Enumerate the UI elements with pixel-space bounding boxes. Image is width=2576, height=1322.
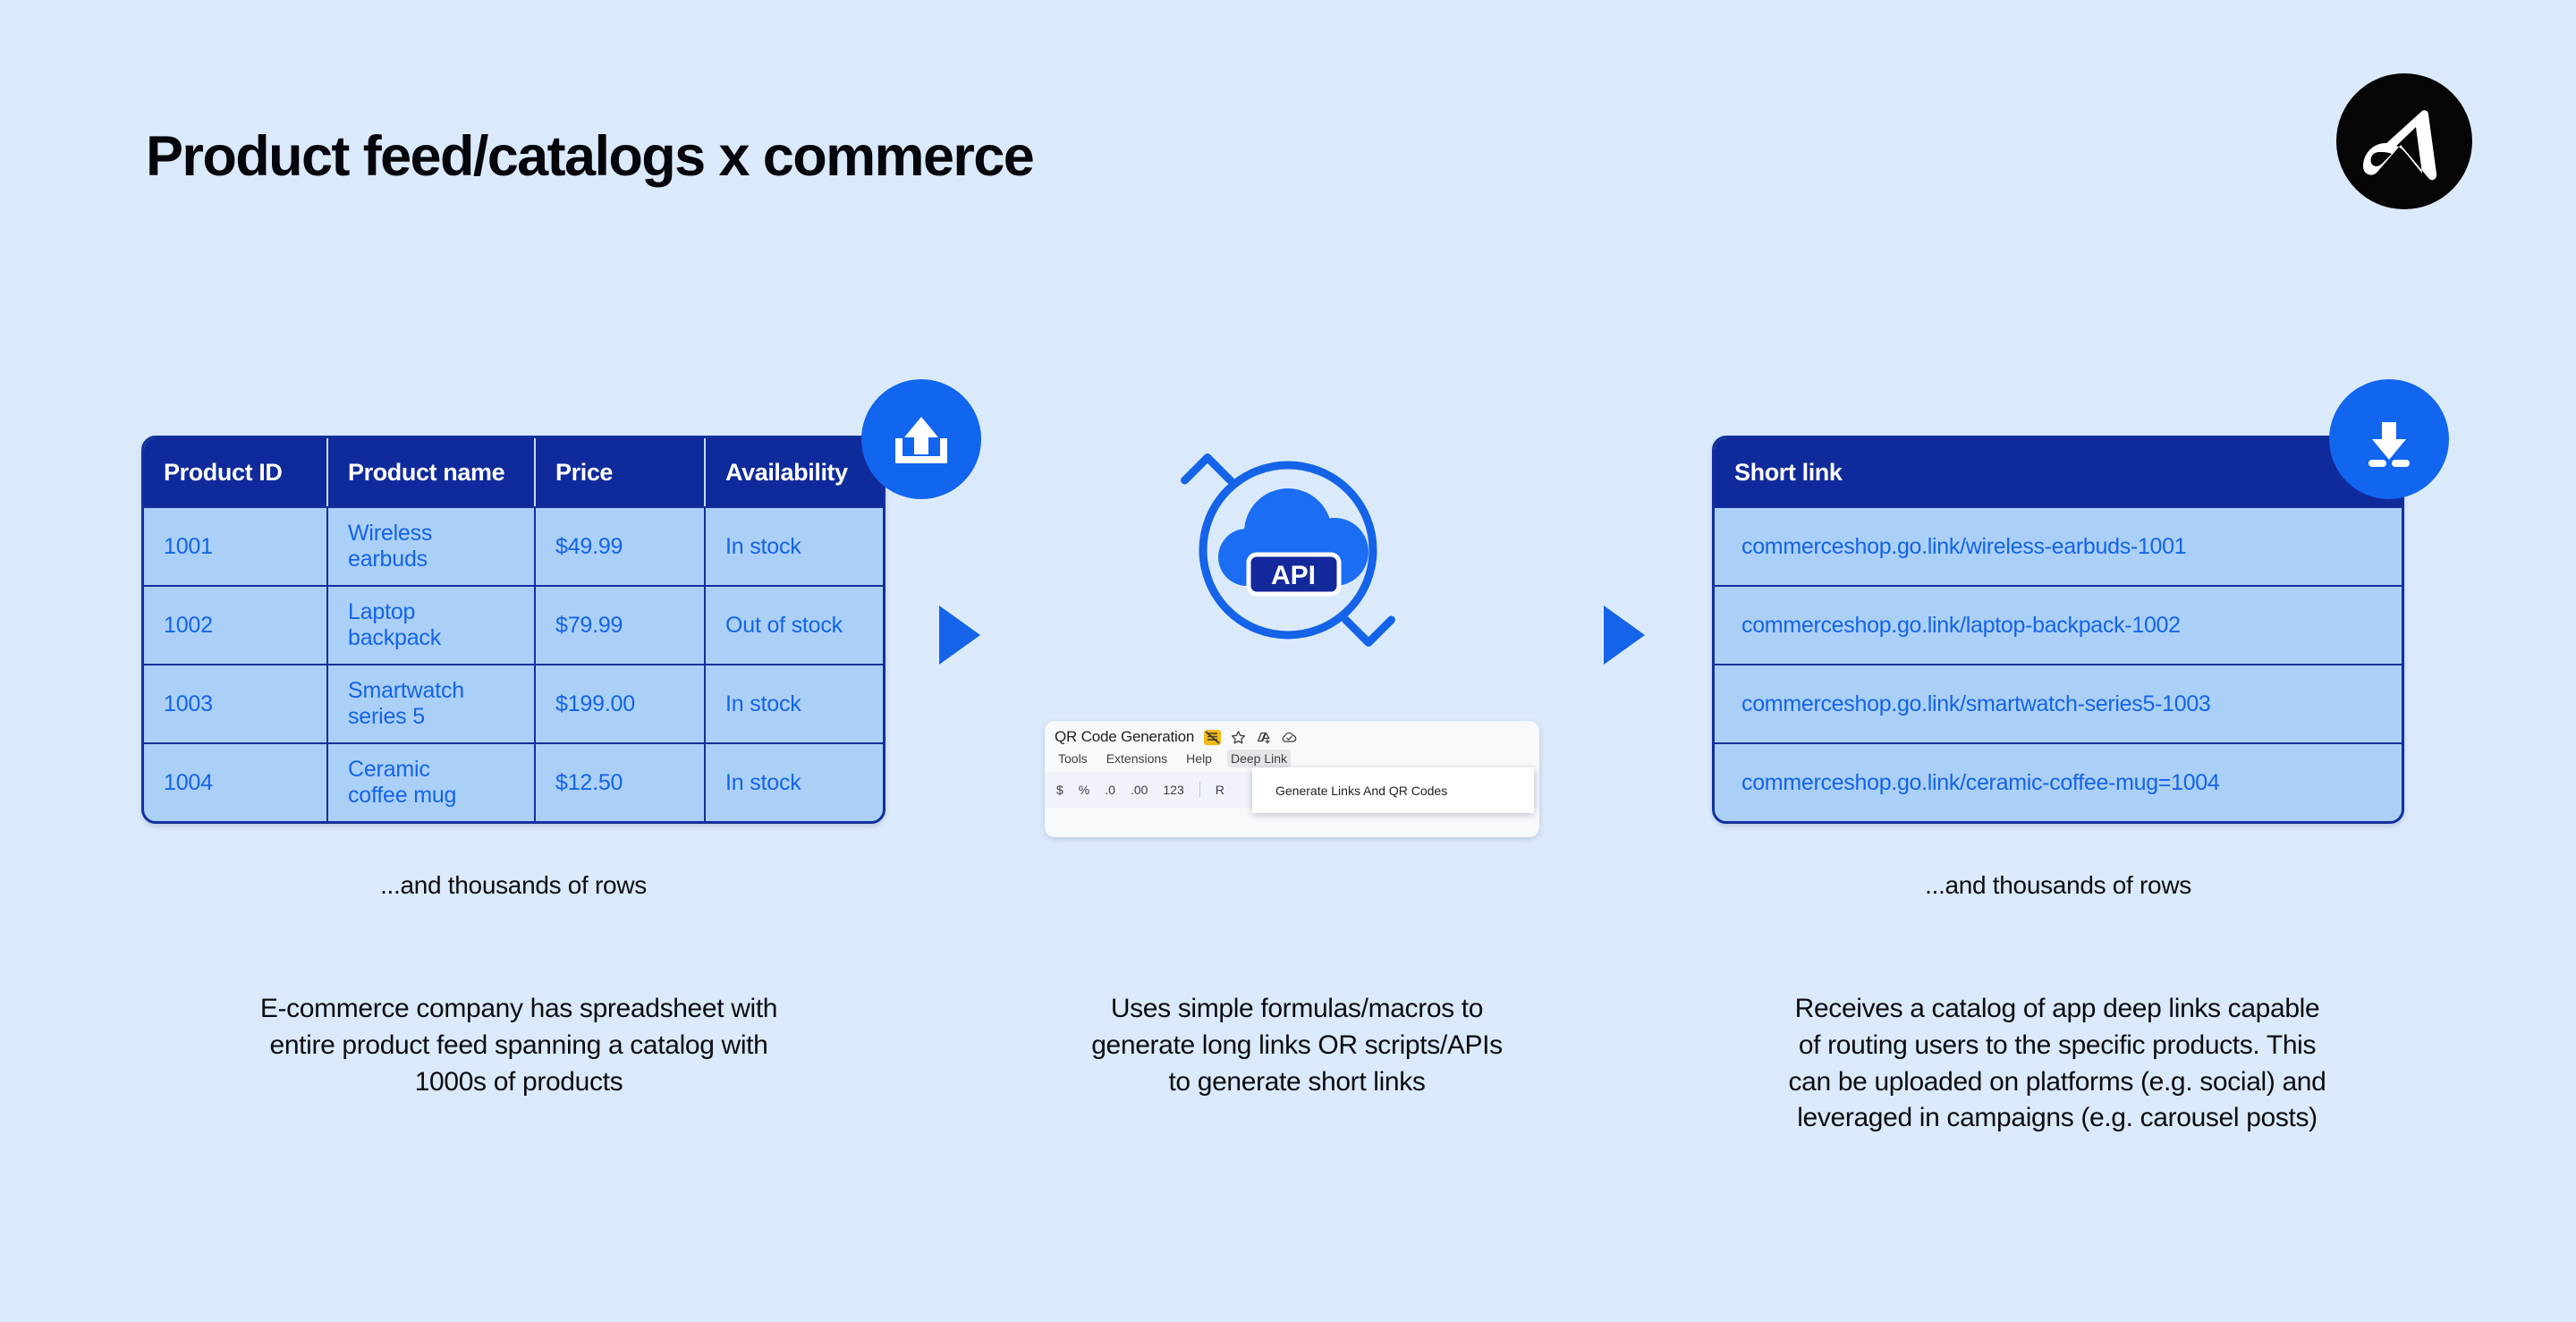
- cell-product-name: Laptop backpack: [328, 587, 536, 664]
- list-item[interactable]: commerceshop.go.link/smartwatch-series5-…: [1715, 664, 2402, 742]
- toolbar-number-format[interactable]: 123: [1163, 783, 1183, 797]
- toolbar-decrease-decimal[interactable]: .0: [1105, 783, 1115, 797]
- cell-product-id: 1002: [144, 587, 328, 664]
- api-cloud-sync-icon: API: [1154, 416, 1422, 684]
- airbridge-logo: [2336, 73, 2472, 209]
- cell-price: $49.99: [536, 508, 706, 585]
- table-header-row: Short link: [1715, 438, 2402, 506]
- sheet-document-title[interactable]: QR Code Generation: [1055, 728, 1194, 746]
- cell-product-id: 1004: [144, 744, 328, 821]
- star-icon[interactable]: [1231, 730, 1246, 745]
- cell-product-name: Wireless earbuds: [328, 508, 536, 585]
- download-icon: [2354, 404, 2424, 474]
- caption-step-3: Receives a catalog of app deep links cap…: [1682, 991, 2433, 1137]
- product-feed-table: Product ID Product name Price Availabili…: [141, 436, 885, 824]
- page-title: Product feed/catalogs x commerce: [146, 124, 1033, 189]
- table-row: 1004 Ceramic coffee mug $12.50 In stock: [144, 742, 883, 821]
- cell-product-name: Ceramic coffee mug: [328, 744, 536, 821]
- cell-availability: In stock: [706, 508, 883, 585]
- upload-badge: [861, 379, 981, 499]
- cell-availability: Out of stock: [706, 587, 883, 664]
- caption-step-1: E-commerce company has spreadsheet with …: [125, 991, 912, 1100]
- deep-link-menu-item-generate[interactable]: Generate Links And QR Codes: [1252, 767, 1534, 813]
- list-item[interactable]: commerceshop.go.link/ceramic-coffee-mug=…: [1715, 742, 2402, 821]
- spreadsheet-mock[interactable]: QR Code Generation: [1045, 721, 1539, 837]
- rows-note-right: ...and thousands of rows: [1712, 871, 2404, 900]
- cell-availability: In stock: [706, 665, 883, 742]
- sheets-file-icon[interactable]: [1204, 729, 1221, 746]
- column-header-product-id: Product ID: [144, 438, 328, 506]
- download-badge: [2329, 379, 2449, 499]
- cell-price: $79.99: [536, 587, 706, 664]
- toolbar-percent-format[interactable]: %: [1079, 783, 1089, 797]
- short-link-table: Short link commerceshop.go.link/wireless…: [1712, 436, 2404, 824]
- cell-product-name: Smartwatch series 5: [328, 665, 536, 742]
- list-item[interactable]: commerceshop.go.link/wireless-earbuds-10…: [1715, 506, 2402, 585]
- cell-price: $12.50: [536, 744, 706, 821]
- menu-tools[interactable]: Tools: [1055, 750, 1091, 767]
- column-header-price: Price: [536, 438, 706, 506]
- table-row: 1002 Laptop backpack $79.99 Out of stock: [144, 585, 883, 664]
- sheet-titlebar: QR Code Generation: [1045, 721, 1539, 748]
- table-row: 1001 Wireless earbuds $49.99 In stock: [144, 506, 883, 585]
- table-row: 1003 Smartwatch series 5 $199.00 In stoc…: [144, 664, 883, 742]
- cell-availability: In stock: [706, 744, 883, 821]
- toolbar-divider: [1199, 782, 1200, 798]
- move-to-drive-icon[interactable]: [1256, 730, 1271, 745]
- menu-help[interactable]: Help: [1182, 750, 1216, 767]
- column-header-product-name: Product name: [328, 438, 536, 506]
- flow-arrow-right: [1604, 606, 1645, 665]
- toolbar-increase-decimal[interactable]: .00: [1131, 783, 1148, 797]
- column-header-availability: Availability: [706, 438, 883, 506]
- cell-product-id: 1001: [144, 508, 328, 585]
- toolbar-currency-format[interactable]: $: [1056, 783, 1063, 797]
- column-header-short-link: Short link: [1715, 438, 2402, 506]
- list-item[interactable]: commerceshop.go.link/laptop-backpack-100…: [1715, 585, 2402, 664]
- menu-deep-link[interactable]: Deep Link: [1227, 750, 1291, 767]
- toolbar-font-select[interactable]: R: [1216, 783, 1224, 797]
- caption-step-2: Uses simple formulas/macros to generate …: [984, 991, 1610, 1100]
- slide-canvas: Product feed/catalogs x commerce Product…: [0, 0, 2576, 1322]
- menu-extensions[interactable]: Extensions: [1103, 750, 1171, 767]
- api-label: API: [1271, 561, 1316, 590]
- rows-note-left: ...and thousands of rows: [141, 871, 885, 900]
- cell-price: $199.00: [536, 665, 706, 742]
- cloud-saved-icon[interactable]: [1281, 730, 1298, 745]
- table-header-row: Product ID Product name Price Availabili…: [144, 438, 883, 506]
- upload-icon: [886, 404, 956, 474]
- sheet-menubar: Tools Extensions Help Deep Link: [1045, 748, 1539, 769]
- flow-arrow-right: [939, 606, 980, 665]
- cell-product-id: 1003: [144, 665, 328, 742]
